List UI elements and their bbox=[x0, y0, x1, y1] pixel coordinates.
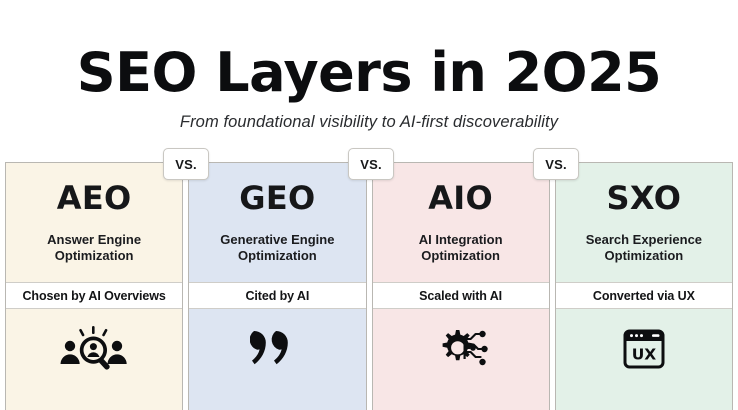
card-band-text-sxo: Converted via UX bbox=[593, 289, 695, 303]
card-band-text-aio: Scaled with AI bbox=[419, 289, 502, 303]
comparison-board: AEO Answer Engine Optimization Chosen by… bbox=[5, 162, 733, 410]
card-band-text-aeo: Chosen by AI Overviews bbox=[23, 289, 166, 303]
quotation-mark-icon bbox=[250, 326, 304, 372]
browser-ux-icon: UX bbox=[618, 326, 670, 372]
card-acronym-aio: AIO bbox=[428, 181, 493, 215]
card-acronym-sxo: SXO bbox=[607, 181, 682, 215]
svg-text:UX: UX bbox=[632, 346, 657, 364]
vs-badge-2: VS. bbox=[348, 148, 394, 180]
vs-badge-label-1: VS. bbox=[175, 157, 197, 172]
people-search-icon bbox=[57, 326, 131, 372]
card-acronym-geo: GEO bbox=[239, 181, 315, 215]
gear-circuit-icon bbox=[428, 326, 494, 372]
card-band-aio: Scaled with AI bbox=[373, 282, 549, 309]
page-subtitle: From foundational visibility to AI-first… bbox=[0, 112, 738, 132]
vs-badge-3: VS. bbox=[533, 148, 579, 180]
vs-badge-label-3: VS. bbox=[545, 157, 567, 172]
column-card-aeo[interactable]: AEO Answer Engine Optimization Chosen by… bbox=[5, 162, 183, 410]
card-fullname-sxo: Search Experience Optimization bbox=[556, 232, 732, 264]
column-card-sxo[interactable]: SXO Search Experience Optimization Conve… bbox=[555, 162, 733, 410]
vs-badge-1: VS. bbox=[163, 148, 209, 180]
column-card-geo[interactable]: GEO Generative Engine Optimization Cited… bbox=[188, 162, 366, 410]
column-card-aio[interactable]: AIO AI Integration Optimization Scaled w… bbox=[372, 162, 550, 410]
card-band-text-geo: Cited by AI bbox=[246, 289, 310, 303]
vs-badge-label-2: VS. bbox=[360, 157, 382, 172]
page-title: SEO Layers in 2O25 bbox=[0, 44, 738, 102]
card-band-aeo: Chosen by AI Overviews bbox=[6, 282, 182, 309]
card-band-sxo: Converted via UX bbox=[556, 282, 732, 309]
card-fullname-aeo: Answer Engine Optimization bbox=[6, 232, 182, 264]
card-band-geo: Cited by AI bbox=[189, 282, 365, 309]
card-fullname-geo: Generative Engine Optimization bbox=[189, 232, 365, 264]
card-fullname-aio: AI Integration Optimization bbox=[373, 232, 549, 264]
infographic-header: SEO Layers in 2O25 From foundational vis… bbox=[0, 0, 738, 132]
card-acronym-aeo: AEO bbox=[57, 181, 132, 215]
